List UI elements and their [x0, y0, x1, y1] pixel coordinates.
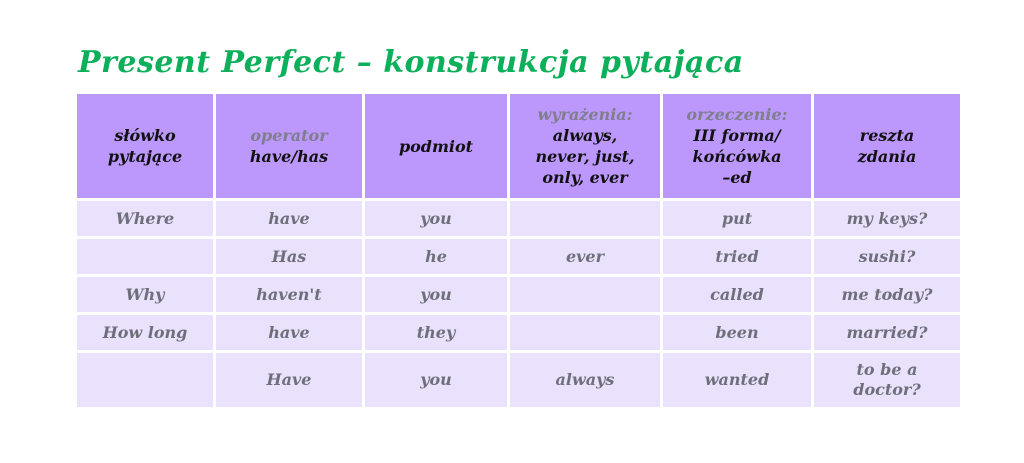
header-line: zdania — [818, 146, 956, 167]
cell-rest: to be a doctor? — [814, 353, 960, 407]
cell-rest: married? — [814, 315, 960, 350]
table-row: Has he ever tried sushi? — [77, 239, 960, 274]
header-line: reszta — [818, 125, 956, 146]
cell-adverb: ever — [510, 239, 660, 274]
cell-rest: my keys? — [814, 201, 960, 236]
present-perfect-question-table: słówko pytające operator have/has podmio… — [74, 91, 963, 410]
header-line: have/has — [220, 146, 358, 167]
header-cell-subject: podmiot — [365, 94, 507, 198]
cell-adverb — [510, 277, 660, 312]
header-cell-adverb: wyrażenia: always, never, just, only, ev… — [510, 94, 660, 198]
header-line: III forma/ — [667, 125, 807, 146]
cell-question-word — [77, 353, 213, 407]
cell-question-word — [77, 239, 213, 274]
header-line: only, ever — [514, 167, 656, 188]
cell-operator: haven't — [216, 277, 362, 312]
header-line: never, just, — [514, 146, 656, 167]
cell-operator: have — [216, 315, 362, 350]
cell-adverb — [510, 201, 660, 236]
page-title: Present Perfect – konstrukcja pytająca — [78, 46, 744, 80]
cell-verb: tried — [663, 239, 811, 274]
header-cell-operator: operator have/has — [216, 94, 362, 198]
cell-rest-line: to be a — [857, 360, 918, 379]
cell-rest: me today? — [814, 277, 960, 312]
table-row: Where have you put my keys? — [77, 201, 960, 236]
table-header-row: słówko pytające operator have/has podmio… — [77, 94, 960, 198]
cell-operator: have — [216, 201, 362, 236]
cell-adverb — [510, 315, 660, 350]
table-row: Why haven't you called me today? — [77, 277, 960, 312]
cell-rest: sushi? — [814, 239, 960, 274]
cell-subject: they — [365, 315, 507, 350]
cell-operator: Have — [216, 353, 362, 407]
header-label: wyrażenia: — [514, 104, 656, 125]
header-label: operator — [220, 125, 358, 146]
header-line: pytające — [81, 146, 209, 167]
cell-verb: wanted — [663, 353, 811, 407]
cell-subject: you — [365, 201, 507, 236]
cell-subject: you — [365, 277, 507, 312]
cell-subject: he — [365, 239, 507, 274]
cell-question-word: Why — [77, 277, 213, 312]
header-line: końcówka — [667, 146, 807, 167]
header-line: słówko — [81, 125, 209, 146]
cell-operator: Has — [216, 239, 362, 274]
header-cell-question-word: słówko pytające — [77, 94, 213, 198]
header-line: podmiot — [369, 136, 503, 157]
cell-rest-line: doctor? — [853, 380, 920, 399]
cell-verb: called — [663, 277, 811, 312]
header-cell-predicate: orzeczenie: III forma/ końcówka –ed — [663, 94, 811, 198]
header-label: orzeczenie: — [667, 104, 807, 125]
cell-verb: been — [663, 315, 811, 350]
table-row: Have you always wanted to be a doctor? — [77, 353, 960, 407]
cell-question-word: How long — [77, 315, 213, 350]
header-cell-rest: reszta zdania — [814, 94, 960, 198]
table-row: How long have they been married? — [77, 315, 960, 350]
cell-verb: put — [663, 201, 811, 236]
header-line: –ed — [667, 167, 807, 188]
cell-question-word: Where — [77, 201, 213, 236]
cell-adverb: always — [510, 353, 660, 407]
header-line: always, — [514, 125, 656, 146]
cell-subject: you — [365, 353, 507, 407]
